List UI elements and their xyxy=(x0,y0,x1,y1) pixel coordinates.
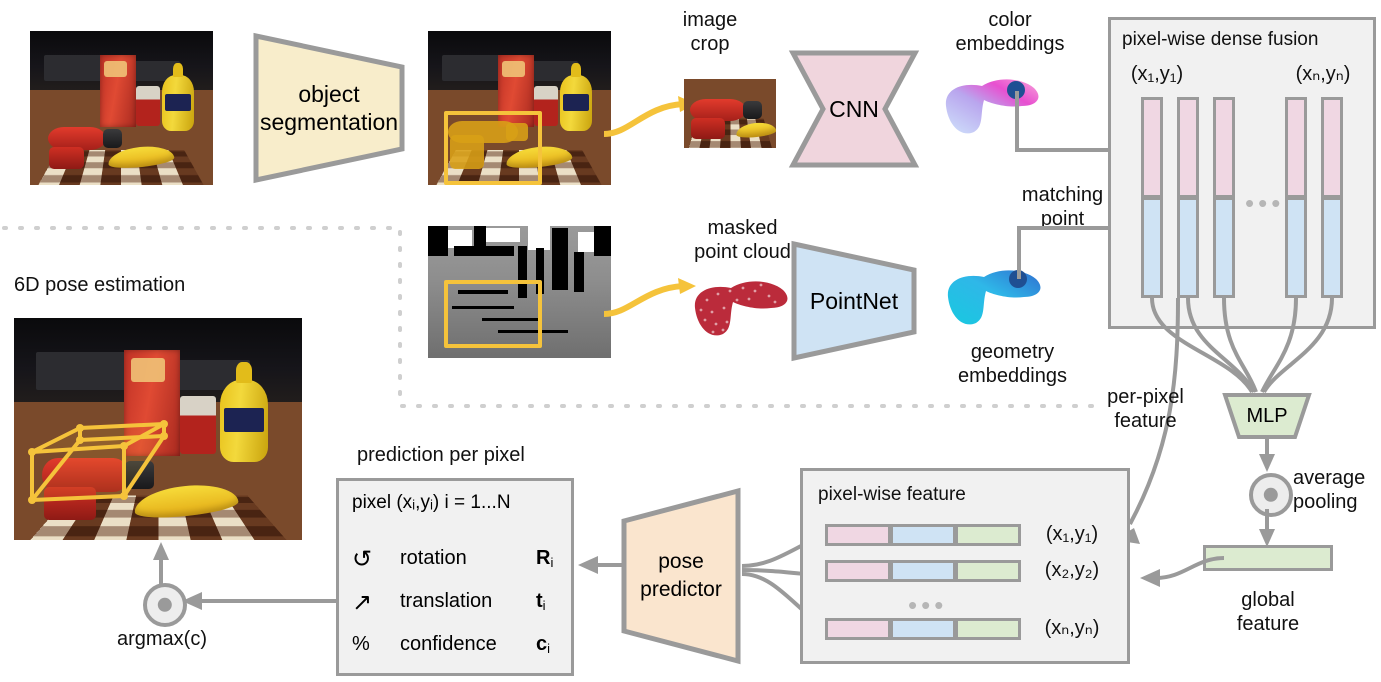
confidence-symbol-sub: i xyxy=(547,641,550,656)
confidence-symbol-letter: c xyxy=(536,633,547,655)
object-segmentation-label: object segmentation xyxy=(253,80,405,136)
pixelwise-row1-global xyxy=(955,524,1021,546)
prediction-row-rotation: ↺ rotation Ri xyxy=(352,545,568,583)
translation-icon: ↗ xyxy=(352,588,372,617)
mlp-to-pool-arrow xyxy=(1258,438,1278,474)
pose-result-image xyxy=(14,318,302,540)
prediction-per-pixel-label: prediction per pixel xyxy=(357,443,657,467)
pointnet-label: PointNet xyxy=(810,287,898,315)
fusion-geometry-segment xyxy=(1285,197,1307,298)
fusion-geometry-segment xyxy=(1177,197,1199,298)
cnn-label: CNN xyxy=(829,95,879,123)
fusion-ellipsis: ••• xyxy=(1245,190,1284,216)
prediction-row-confidence: % confidence ci xyxy=(352,631,568,669)
prediction-header-text: pixel (xᵢ,yᵢ) i = 1...N xyxy=(352,492,511,513)
pixelwise-feature-title: pixel-wise feature xyxy=(818,483,1078,507)
argmax-to-result-arrow xyxy=(150,540,174,584)
pose-bounding-box-3d xyxy=(14,318,302,540)
drill-chuck xyxy=(103,129,122,148)
pose-predictor-block[interactable]: pose predictor xyxy=(620,487,742,665)
color-embeddings-label: color embeddings xyxy=(930,8,1090,56)
image-crop-thumbnail xyxy=(684,79,776,148)
image-crop-label: image crop xyxy=(645,8,775,56)
cereal-box xyxy=(100,55,136,127)
pose-predictor-label: pose predictor xyxy=(620,548,742,604)
rotation-symbol: Ri xyxy=(536,547,553,570)
pixelwise-row3-global xyxy=(955,618,1021,640)
soup-can xyxy=(136,86,160,126)
translation-symbol-sub: i xyxy=(543,598,546,613)
segmented-rgb-image xyxy=(428,31,611,185)
pixelwise-row2-global xyxy=(955,560,1021,582)
dense-fusion-title: pixel-wise dense fusion xyxy=(1122,28,1372,52)
global-feature-label: global feature xyxy=(1208,588,1328,636)
mlp-label: MLP xyxy=(1246,402,1287,430)
pixelwise-row2-index: (x₂,y₂) xyxy=(1032,558,1112,582)
fusion-color-segment xyxy=(1213,97,1235,198)
rotation-icon: ↺ xyxy=(352,545,372,574)
fusion-geometry-segment xyxy=(1213,197,1235,298)
dense-fusion-first-index: (x₁,y₁) xyxy=(1112,62,1202,86)
prediction-to-argmax-arrow xyxy=(178,591,338,613)
translation-label: translation xyxy=(400,590,492,613)
fusion-color-segment xyxy=(1177,97,1199,198)
fusion-geometry-segment xyxy=(1141,197,1163,298)
average-pooling-label: average pooling xyxy=(1293,466,1381,514)
drill-battery xyxy=(49,147,83,169)
pixelwise-row3-color xyxy=(825,618,891,640)
rotation-label: rotation xyxy=(400,547,467,570)
dense-fusion-last-index: (xₙ,yₙ) xyxy=(1278,62,1368,86)
cnn-block[interactable]: CNN xyxy=(789,49,919,169)
global-to-pixelwise-link xyxy=(1120,548,1230,588)
drill-battery xyxy=(691,118,724,139)
pixelwise-row3-index: (xₙ,yₙ) xyxy=(1032,616,1112,640)
pixelwise-row1-color xyxy=(825,524,891,546)
confidence-label: confidence xyxy=(400,633,497,656)
input-rgb-image xyxy=(30,31,213,185)
segmentation-bounding-box xyxy=(444,111,542,185)
confidence-symbol: ci xyxy=(536,633,550,656)
mustard-bottle xyxy=(560,75,592,131)
pixelwise-row2-geometry xyxy=(890,560,956,582)
drill-chuck xyxy=(743,101,762,119)
rotation-symbol-letter: R xyxy=(536,547,550,569)
translation-symbol: ti xyxy=(536,590,546,613)
pixelwise-row2-color xyxy=(825,560,891,582)
mustard-bottle xyxy=(162,75,194,131)
fusion-geometry-segment xyxy=(1321,197,1343,298)
object-segmentation-block[interactable]: object segmentation xyxy=(253,33,405,183)
pixelwise-row1-geometry xyxy=(890,524,956,546)
fusion-color-segment xyxy=(1321,97,1343,198)
prediction-header: pixel (xᵢ,yᵢ) i = 1...N xyxy=(352,492,572,514)
pixelwise-row3-geometry xyxy=(890,618,956,640)
rotation-symbol-sub: i xyxy=(550,555,553,570)
fusion-color-segment xyxy=(1141,97,1163,198)
argmax-label: argmax(c) xyxy=(110,627,214,651)
confidence-icon: % xyxy=(352,633,370,656)
pose-estimation-label: 6D pose estimation xyxy=(14,273,314,297)
mlp-block[interactable]: MLP xyxy=(1222,392,1312,440)
prediction-row-translation: ↗ translation ti xyxy=(352,588,568,626)
translation-symbol-letter: t xyxy=(536,590,543,612)
pixelwise-ellipsis: ••• xyxy=(908,592,947,618)
fusion-color-segment xyxy=(1285,97,1307,198)
pixelwise-row1-index: (x₁,y₁) xyxy=(1032,522,1112,546)
